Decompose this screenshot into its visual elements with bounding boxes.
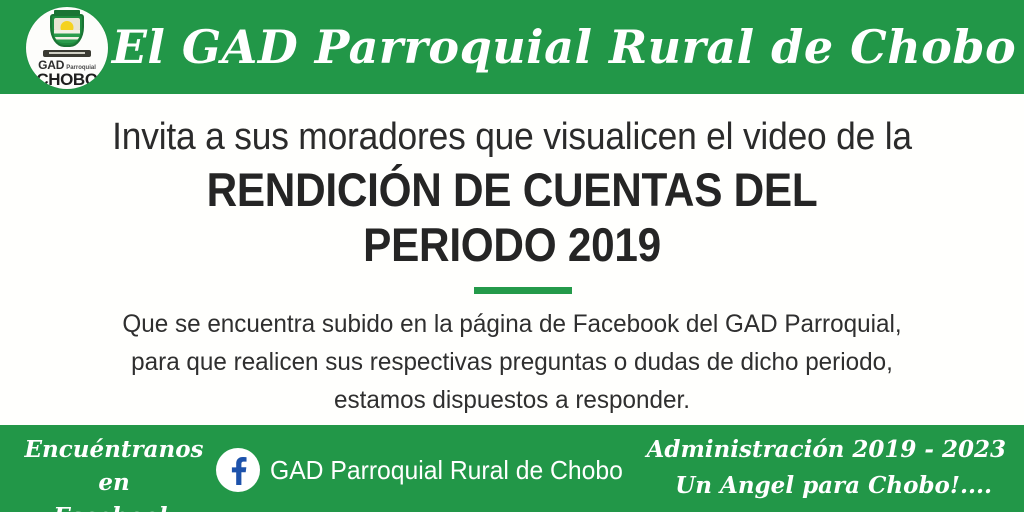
- administration-period: Administración 2019 - 2023: [536, 432, 1006, 468]
- headline-line-1: RENDICIÓN DE CUENTAS DEL: [51, 162, 973, 217]
- facebook-icon[interactable]: [216, 448, 260, 492]
- body-paragraph: Que se encuentra subido en la página de …: [15, 305, 1008, 419]
- find-us-line-1: Encuéntranos en: [18, 433, 210, 500]
- administration-slogan: Un Angel para Chobo!....: [536, 468, 1006, 504]
- headline-block: RENDICIÓN DE CUENTAS DEL PERIODO 2019: [51, 162, 973, 273]
- paragraph-line-1: Que se encuentra subido en la página de …: [15, 305, 1008, 343]
- find-us-text: Encuéntranos en Facebook: [18, 433, 210, 512]
- green-divider-rule: [474, 287, 572, 294]
- find-us-line-2: Facebook: [18, 500, 210, 512]
- gad-chobo-logo: GAD Parroquial CHOBO: [26, 7, 108, 89]
- logo-chobo-text: CHOBO: [36, 71, 97, 88]
- ribbon-banner-icon: [43, 50, 91, 57]
- poster-title: El GAD Parroquial Rural de Chobo: [124, 8, 1004, 86]
- invitation-line: Invita a sus moradores que visualicen el…: [36, 116, 988, 159]
- headline-line-2: PERIODO 2019: [51, 217, 973, 272]
- crest-icon: [50, 14, 84, 47]
- header-band: GAD Parroquial CHOBO El GAD Parroquial R…: [0, 0, 1024, 94]
- administration-block: Administración 2019 - 2023 Un Angel para…: [536, 432, 1006, 503]
- poster-canvas: GAD Parroquial CHOBO El GAD Parroquial R…: [0, 0, 1024, 512]
- main-content: Invita a sus moradores que visualicen el…: [0, 94, 1024, 425]
- paragraph-line-3: estamos dispuestos a responder.: [15, 381, 1008, 419]
- paragraph-line-2: para que realicen sus respectivas pregun…: [15, 343, 1008, 381]
